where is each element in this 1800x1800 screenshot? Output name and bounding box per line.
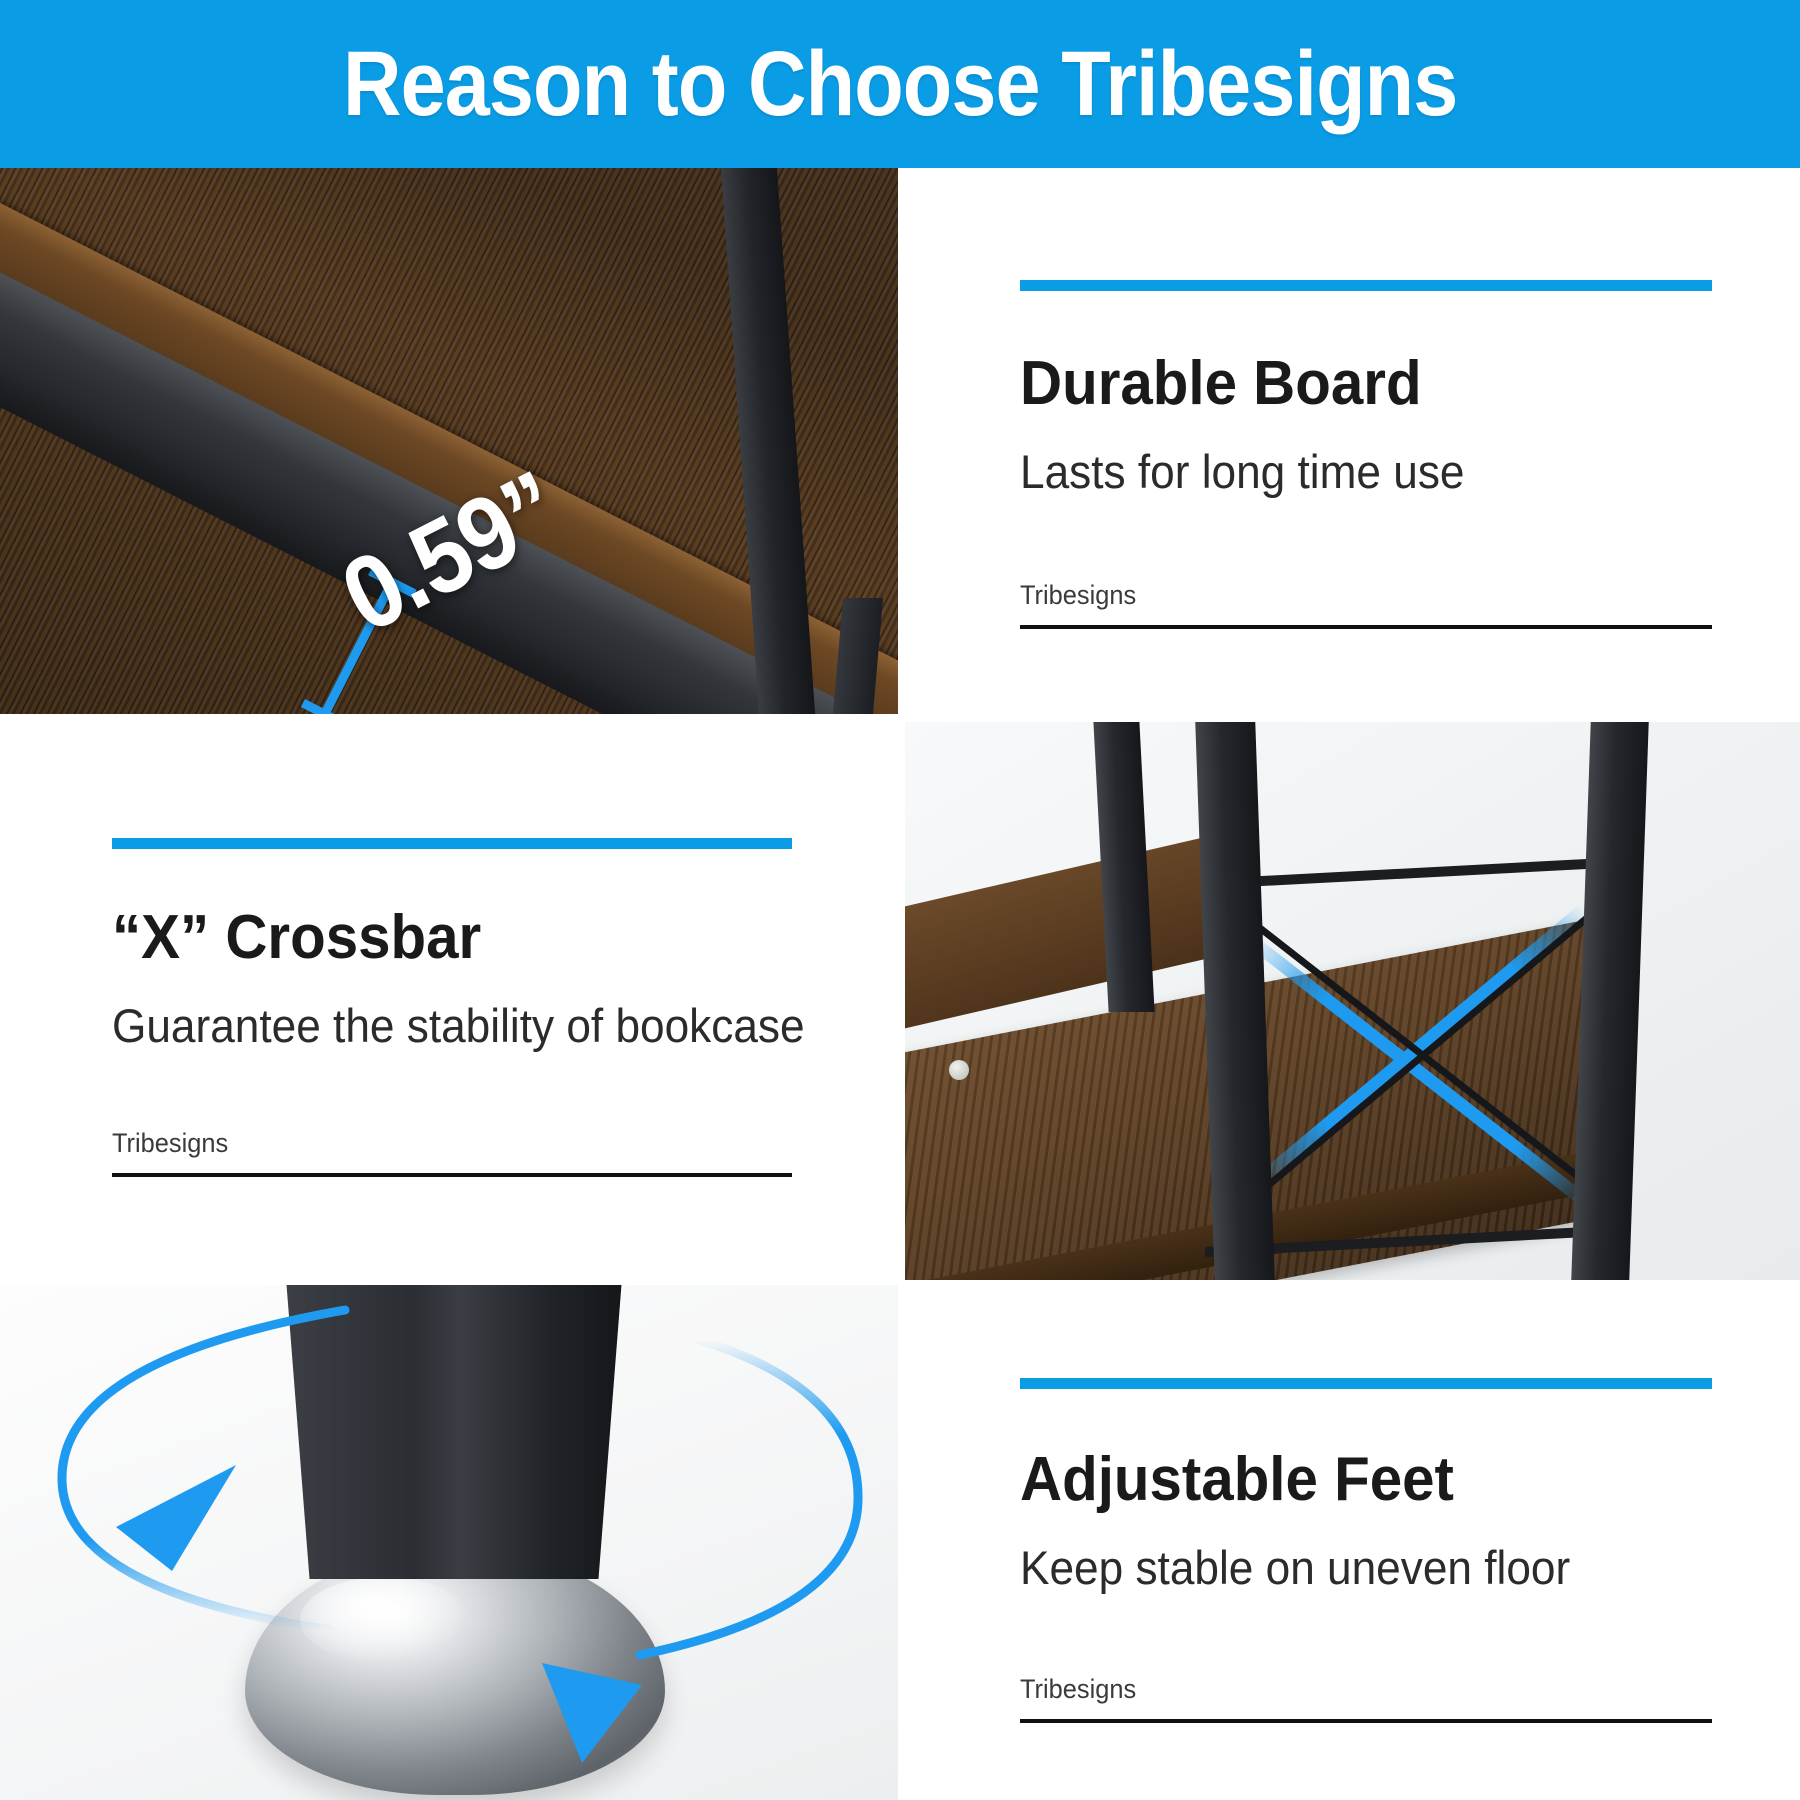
feature-panel-durable-board: Durable Board Lasts for long time use Tr… bbox=[1020, 280, 1712, 629]
feature-subheading: Guarantee the stability of bookcase bbox=[112, 1000, 751, 1052]
feature-subheading: Keep stable on uneven floor bbox=[1020, 1542, 1670, 1594]
feature-panel-x-crossbar: “X” Crossbar Guarantee the stability of … bbox=[112, 838, 792, 1177]
divider-rule-bottom bbox=[112, 1173, 792, 1177]
feature-subheading: Lasts for long time use bbox=[1020, 446, 1670, 498]
photo-adjustable-feet bbox=[0, 1285, 898, 1800]
feature-heading: “X” Crossbar bbox=[112, 905, 751, 970]
accent-rule-top bbox=[1020, 1378, 1712, 1389]
photo-durable-board: 0.59” bbox=[0, 168, 898, 714]
photo-x-crossbar bbox=[905, 722, 1800, 1280]
divider-rule-bottom bbox=[1020, 625, 1712, 629]
brand-label: Tribesigns bbox=[1020, 1674, 1670, 1705]
accent-rule-top bbox=[1020, 280, 1712, 291]
feature-panel-adjustable-feet: Adjustable Feet Keep stable on uneven fl… bbox=[1020, 1378, 1712, 1723]
brand-label: Tribesigns bbox=[112, 1128, 751, 1159]
page-title: Reason to Choose Tribesigns bbox=[343, 38, 1457, 130]
divider-rule-bottom bbox=[1020, 1719, 1712, 1723]
feature-heading: Durable Board bbox=[1020, 351, 1670, 416]
metal-post-right bbox=[1571, 722, 1648, 1280]
feature-heading: Adjustable Feet bbox=[1020, 1447, 1670, 1512]
frame-rail-top bbox=[1205, 857, 1625, 889]
accent-rule-top bbox=[112, 838, 792, 849]
brand-label: Tribesigns bbox=[1020, 580, 1670, 611]
screw-icon bbox=[949, 1060, 969, 1080]
infographic-page: Reason to Choose Tribesigns 0.59” Durabl… bbox=[0, 0, 1800, 1800]
rotation-arrows-icon bbox=[0, 1285, 898, 1800]
header-banner: Reason to Choose Tribesigns bbox=[0, 0, 1800, 168]
